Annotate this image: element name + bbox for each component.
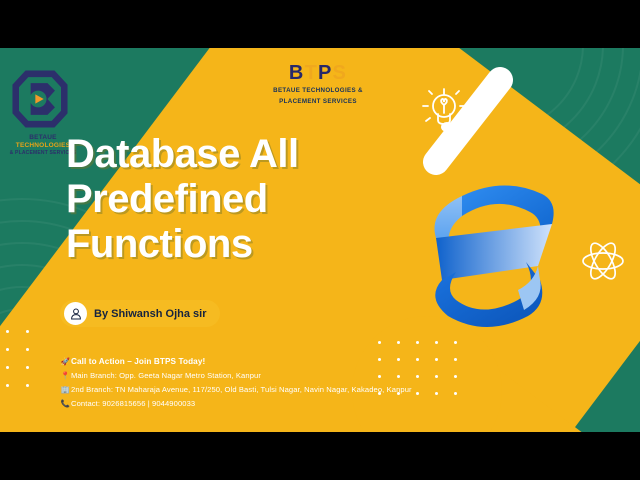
btps-wordmark: BTPS [258, 62, 378, 84]
person-avatar-icon [64, 302, 87, 325]
footer-contact-text: Contact: 9026815656 | 9044900033 [71, 398, 195, 410]
btps-letter-t: T [305, 62, 318, 84]
page-title: Database All Predefined Functions [66, 132, 396, 267]
btps-letter-p: P [318, 62, 333, 84]
dot-grid-left [6, 330, 46, 402]
slide-canvas: BETAUE TECHNOLOGIES & PLACEMENT SERVICES… [0, 48, 640, 432]
footer-second-branch-text: 2nd Branch: TN Maharaja Avenue, 117/250,… [71, 384, 412, 396]
footer-row-contact: 📞 Contact: 9026815656 | 9044900033 [60, 398, 412, 410]
lightbulb-idea-icon [418, 83, 474, 139]
mobius-ribbon-logo [418, 168, 588, 343]
atom-icon [580, 238, 626, 284]
btps-subtitle-line2: PLACEMENT SERVICES [258, 97, 378, 106]
title-line-3: Functions [66, 222, 396, 267]
logo-text-a: BETAUE [29, 134, 56, 141]
title-line-1: Database All [66, 132, 396, 177]
btps-hexagon-logo-icon [12, 70, 68, 128]
footer-main-branch-text: Main Branch: Opp. Geeta Nagar Metro Stat… [71, 370, 261, 382]
letterbox-bar-bottom [0, 432, 640, 480]
footer-cta-text: Call to Action – Join BTPS Today! [71, 356, 205, 368]
footer-row-second-branch: 🏢 2nd Branch: TN Maharaja Avenue, 117/25… [60, 384, 412, 396]
office-building-icon: 🏢 [60, 384, 71, 396]
author-badge: By Shiwansh Ojha sir [60, 300, 220, 327]
rocket-icon: 🚀 [60, 356, 71, 368]
video-thumbnail: BETAUE TECHNOLOGIES & PLACEMENT SERVICES… [0, 0, 640, 480]
footer-contact-block: 🚀 Call to Action – Join BTPS Today! 📍 Ma… [60, 356, 412, 412]
btps-letter-b: B [289, 62, 305, 84]
footer-row-main-branch: 📍 Main Branch: Opp. Geeta Nagar Metro St… [60, 370, 412, 382]
letterbox-bar-top [0, 0, 640, 48]
map-pin-icon: 📍 [60, 370, 71, 382]
btps-header: BTPS BETAUE TECHNOLOGIES & PLACEMENT SER… [258, 62, 378, 106]
btps-letter-s: S [333, 62, 348, 84]
btps-subtitle-line1: BETAUE TECHNOLOGIES & [258, 86, 378, 95]
logo-text-b: TECHNOLOGIES [16, 142, 70, 149]
author-label: By Shiwansh Ojha sir [94, 308, 206, 320]
title-line-2: Predefined [66, 177, 396, 222]
phone-icon: 📞 [60, 398, 71, 410]
footer-row-cta: 🚀 Call to Action – Join BTPS Today! [60, 356, 412, 368]
